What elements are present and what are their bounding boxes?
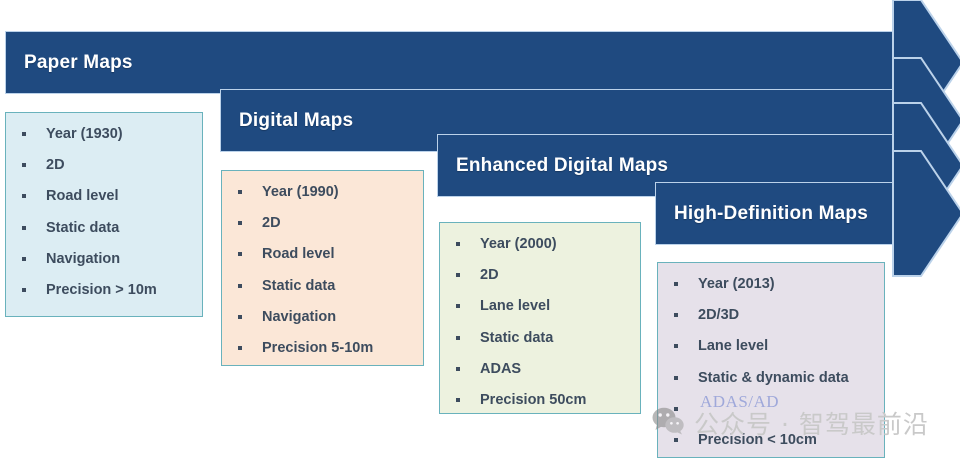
list-item: 2D <box>454 268 630 283</box>
banner-bar: Paper Maps <box>5 31 895 94</box>
feature-text: Road level <box>46 188 119 204</box>
feature-card-high-definition-maps[interactable]: Year (2013) 2D/3D Lane level Static & dy… <box>657 262 885 458</box>
feature-text: Static & dynamic data <box>698 370 849 386</box>
bullet-icon <box>674 438 678 442</box>
feature-text: ADAS <box>480 361 521 377</box>
feature-text: Precision < 10cm <box>698 432 817 448</box>
list-item: Static & dynamic data <box>672 371 874 386</box>
list-item: Static data <box>454 331 630 346</box>
list-item: Precision > 10m <box>20 283 192 298</box>
bullet-icon <box>22 288 26 292</box>
list-item: 2D <box>20 158 192 173</box>
banner-label: High-Definition Maps <box>656 203 868 225</box>
bullet-icon <box>674 313 678 317</box>
feature-text: 2D <box>46 157 65 173</box>
bullet-icon <box>22 257 26 261</box>
feature-card-digital-maps[interactable]: Year (1990) 2D Road level Static data Na… <box>221 170 424 366</box>
bullet-icon <box>22 194 26 198</box>
bullet-icon <box>456 273 460 277</box>
banner-label: Digital Maps <box>221 110 353 132</box>
feature-card-enhanced-digital-maps[interactable]: Year (2000) 2D Lane level Static data AD… <box>439 222 641 414</box>
feature-text: 2D/3D <box>698 307 739 323</box>
bullet-icon <box>456 304 460 308</box>
feature-text: Year (2013) <box>698 276 775 292</box>
list-item: ADAS/AD <box>672 402 874 417</box>
list-item: Year (2000) <box>454 237 630 252</box>
feature-text: Lane level <box>480 298 550 314</box>
feature-text: 2D <box>262 215 281 231</box>
feature-list: Year (1990) 2D Road level Static data Na… <box>236 185 413 356</box>
list-item: Lane level <box>454 299 630 314</box>
feature-text: Navigation <box>46 251 120 267</box>
feature-text: 2D <box>480 267 499 283</box>
list-item: Road level <box>236 247 413 262</box>
feature-text: Year (1930) <box>46 126 123 142</box>
list-item: Road level <box>20 189 192 204</box>
bullet-icon <box>22 132 26 136</box>
bullet-icon <box>238 315 242 319</box>
list-item: Static data <box>20 221 192 236</box>
bullet-icon <box>238 284 242 288</box>
bullet-icon <box>674 376 678 380</box>
feature-text: Static data <box>480 330 553 346</box>
feature-text: Static data <box>46 220 119 236</box>
banner-label: Paper Maps <box>6 52 133 74</box>
banner-label: Enhanced Digital Maps <box>438 155 668 177</box>
feature-list: Year (2000) 2D Lane level Static data AD… <box>454 237 630 408</box>
bullet-icon <box>238 221 242 225</box>
bullet-icon <box>674 344 678 348</box>
list-item: Year (2013) <box>672 277 874 292</box>
feature-list: Year (1930) 2D Road level Static data Na… <box>20 127 192 298</box>
feature-text: Static data <box>262 278 335 294</box>
feature-text: Lane level <box>698 338 768 354</box>
list-item: Precision 5-10m <box>236 341 413 356</box>
feature-text: Precision 5-10m <box>262 340 373 356</box>
list-item: Precision 50cm <box>454 393 630 408</box>
bullet-icon <box>238 190 242 194</box>
bullet-icon <box>456 367 460 371</box>
feature-text: Precision > 10m <box>46 282 157 298</box>
list-item: Navigation <box>20 252 192 267</box>
list-item: 2D <box>236 216 413 231</box>
bullet-icon <box>456 398 460 402</box>
diagram-canvas: Paper Maps Digital Maps Enhanced Digital… <box>0 0 960 461</box>
list-item: 2D/3D <box>672 308 874 323</box>
list-item: Navigation <box>236 310 413 325</box>
list-item: Precision < 10cm <box>672 433 874 448</box>
bullet-icon <box>238 252 242 256</box>
bullet-icon <box>456 336 460 340</box>
feature-text: Precision 50cm <box>480 392 586 408</box>
bullet-icon <box>238 346 242 350</box>
bullet-icon <box>674 407 678 411</box>
bullet-icon <box>674 282 678 286</box>
stage-banner-paper-maps[interactable]: Paper Maps <box>5 31 895 94</box>
arrow-head-icon <box>893 182 960 245</box>
feature-text: Navigation <box>262 309 336 325</box>
list-item: ADAS <box>454 362 630 377</box>
feature-text: Road level <box>262 246 335 262</box>
list-item: Static data <box>236 279 413 294</box>
feature-card-paper-maps[interactable]: Year (1930) 2D Road level Static data Na… <box>5 112 203 317</box>
feature-text: Year (2000) <box>480 236 557 252</box>
bullet-icon <box>22 163 26 167</box>
list-item: Year (1990) <box>236 185 413 200</box>
list-item: Year (1930) <box>20 127 192 142</box>
banner-bar: High-Definition Maps <box>655 182 895 245</box>
feature-list: Year (2013) 2D/3D Lane level Static & dy… <box>672 277 874 448</box>
bullet-icon <box>456 242 460 246</box>
bullet-icon <box>22 226 26 230</box>
stage-banner-high-definition-maps[interactable]: High-Definition Maps <box>655 182 895 245</box>
feature-text: Year (1990) <box>262 184 339 200</box>
list-item: Lane level <box>672 339 874 354</box>
